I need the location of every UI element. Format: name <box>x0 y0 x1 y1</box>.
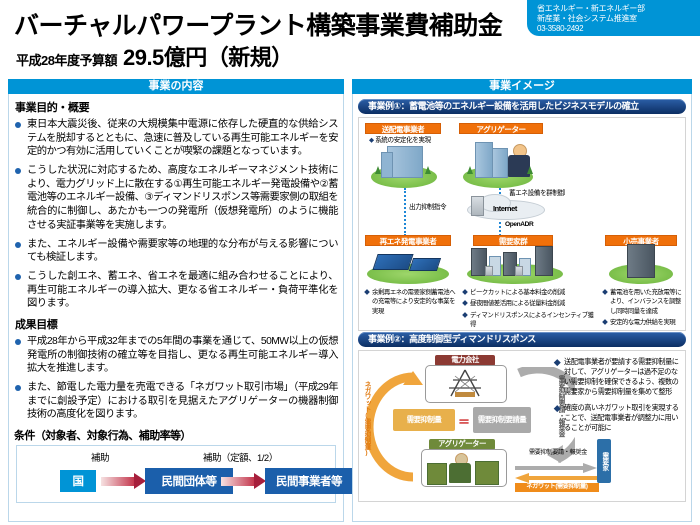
label-aggregator: アグリゲーター <box>459 123 543 134</box>
subsidy-flow-diagram: 補助 補助（定額、1/2） 国 民間団体等 民間事業者等 <box>16 445 336 503</box>
dotted-line-cloud-to-demand-icon <box>499 222 501 236</box>
chip-consumer: 需要家 <box>597 439 611 483</box>
office-building-b-icon <box>492 148 508 178</box>
control-unit-right-icon <box>475 461 499 485</box>
arrow-to-consumer-icon <box>515 463 597 473</box>
list-item: 余剰再エネの需要家側蓄電池への充電等により安定的な事業を実現 <box>365 288 457 316</box>
flow-box-organization: 民間団体等 <box>145 468 233 494</box>
flow-label-1: 補助 <box>91 450 109 464</box>
note-output-control: 出力抑制指令 <box>409 204 446 212</box>
battery-2-icon <box>515 266 523 276</box>
arrow-from-consumer-icon <box>515 473 597 483</box>
solar-panel-2-icon <box>409 258 441 271</box>
goal-bullet-list: 平成28年から平成32年までの5年間の事業を通じて、50MW以上の仮想発電所の制… <box>14 335 338 422</box>
budget-amount: 29.5億円（新規） <box>123 45 293 70</box>
example1-bullets-left: 余剰再エネの需要家側蓄電池への充電等により安定的な事業を実現 <box>365 288 457 318</box>
list-item: また、節電した電力量を売電できる「ネガワット取引市場」（平成29年までに創設予定… <box>14 381 338 422</box>
contact-box: 省エネルギー・新エネルギー部 新産業・社会システム推進室 03-3580-249… <box>527 0 700 36</box>
chip-consumer-label: 需要家 <box>600 452 608 471</box>
list-item: こうした状況に対応するため、高度なエネルギーマネジメント技術により、電力グリッド… <box>14 164 338 232</box>
office-building-a-icon <box>475 142 493 178</box>
page-root: バーチャルパワープラント構築事業費補助金 平成28年度予算額29.5億円（新規）… <box>0 0 700 525</box>
flow-label-2: 補助（定額、1/2） <box>203 450 278 464</box>
control-unit-left-icon <box>427 463 447 485</box>
contact-department: 省エネルギー・新エネルギー部 <box>537 4 694 14</box>
goal-heading: 成果目標 <box>15 316 338 332</box>
dotted-line-output-control-icon <box>404 188 406 236</box>
example1-bullets-mid: ピークカットによる基本料金の削減 昼夜間値差活用による従量料金削減 ディマンドリ… <box>463 288 599 331</box>
flow-arrow-2-icon <box>221 473 267 489</box>
list-item: ピークカットによる基本料金の削減 <box>463 288 599 297</box>
flow-arrow-1-icon <box>101 473 147 489</box>
label-demand-group: 需要家群 <box>473 235 553 246</box>
purpose-bullet-list: 東日本大震災後、従来の大規模集中電源に依存した硬直的な供給システムを脱却するとと… <box>14 118 338 311</box>
left-column: 事業の内容 事業目的・概要 東日本大震災後、従来の大規模集中電源に依存した硬直的… <box>8 79 344 522</box>
list-item: 平成28年から平成32年までの5年間の事業を通じて、50MW以上の仮想発電所の制… <box>14 335 338 376</box>
label-tso: 送配電事業者 <box>365 123 441 134</box>
list-item: 昼夜間値差活用による従量料金削減 <box>463 299 599 308</box>
aggregator2-body-icon <box>449 463 471 483</box>
contact-phone: 03-3580-2492 <box>537 24 694 34</box>
demand-building-3-icon <box>535 246 553 276</box>
cycle-arrow-left-icon <box>367 369 423 485</box>
budget-line: 平成28年度予算額29.5億円（新規） <box>16 40 293 72</box>
note-group-control: 蓄エネ設備を群制御 <box>509 190 565 198</box>
example2-diagram: 電力会社 アグリゲーター 需要 <box>358 350 686 502</box>
list-item: 東日本大震災後、従来の大規模集中電源に依存した硬直的な供給システムを脱却するとと… <box>14 118 338 159</box>
list-item: また、エネルギー設備や需要家等の地理的な分布が与える影響についても検証します。 <box>14 238 338 265</box>
flow-box-country: 国 <box>60 470 96 492</box>
battery-1-icon <box>485 266 493 276</box>
example2-banner: 事業例②：高度制御型ディマンドリスポンス <box>358 332 686 347</box>
page-header: バーチャルパワープラント構築事業費補助金 平成28年度予算額29.5億円（新規）… <box>0 0 700 76</box>
left-section-body: 事業目的・概要 東日本大震災後、従来の大規模集中電源に依存した硬直的な供給システ… <box>8 94 344 522</box>
example1-banner: 事業例①：蓄電池等のエネルギー設備を活用したビジネスモデルの確立 <box>358 99 686 114</box>
note-grid-stability: ◆ 系統の安定化を実現 <box>369 137 431 145</box>
label-internet: Internet <box>493 204 517 213</box>
purpose-heading: 事業目的・概要 <box>15 99 338 115</box>
condition-heading: 条件（対象者、対象行為、補助率等） <box>14 427 338 443</box>
server-icon <box>471 196 484 216</box>
example1-bullets-right: 蓄電池を用いた充放電等により、インバランスを調整し同時同量を達成 安定的な電力供… <box>603 288 685 329</box>
list-item: こうした創エネ、蓄エネ、省エネを最適に組み合わせることにより、再生可能エネルギー… <box>14 270 338 311</box>
left-section-header: 事業の内容 <box>8 79 344 94</box>
right-section-header: 事業イメージ <box>352 79 692 94</box>
transmission-tower-icon <box>435 368 495 398</box>
list-item: 安定的な電力供給を実現 <box>603 318 685 327</box>
page-title: バーチャルパワープラント構築事業費補助金 <box>14 6 502 42</box>
right-section-body: 事業例①：蓄電池等のエネルギー設備を活用したビジネスモデルの確立 送配電事業者 … <box>352 94 692 522</box>
example2-bullets: 送配電事業者が要請する需要抑制量に対して、アグリゲーターは過不足のない需要抑制を… <box>555 357 681 439</box>
label-negawatt-right: ネガワット(需要抑制量) <box>515 483 599 492</box>
list-item: 蓄電池を用いた充放電等により、インバランスを調整し同時同量を達成 <box>603 288 685 316</box>
list-item: 確度の高いネガワット取引を実現することで、送配電事業者が調整力に用いることが可能… <box>555 403 681 433</box>
example1-diagram: 送配電事業者 ◆ 系統の安定化を実現 アグリゲーター <box>358 117 686 331</box>
flow-box-business: 民間事業者等 <box>265 468 353 494</box>
solar-panel-icon <box>372 254 413 270</box>
label-negawatt-left: ネガワット(需要抑制量) <box>361 381 371 456</box>
budget-label: 平成28年度予算額 <box>16 53 117 68</box>
label-re-operator: 再エネ発電事業者 <box>365 235 451 246</box>
contact-division: 新産業・社会システム推進室 <box>537 14 694 24</box>
label-openadr: OpenADR <box>505 221 533 229</box>
right-column: 事業イメージ 事業例①：蓄電池等のエネルギー設備を活用したビジネスモデルの確立 … <box>352 79 692 522</box>
list-item: 送配電事業者が要請する需要抑制量に対して、アグリゲーターは過不足のない需要抑制を… <box>555 357 681 397</box>
equals-sign: ＝ <box>458 413 469 430</box>
label-request-fee: 需要抑制要請・報奨金 <box>529 449 587 457</box>
list-item: ディマンドリスポンスによるインセンティブ獲得 <box>463 311 599 330</box>
retailer-building-icon <box>627 244 655 278</box>
substation-side-icon <box>381 152 393 178</box>
